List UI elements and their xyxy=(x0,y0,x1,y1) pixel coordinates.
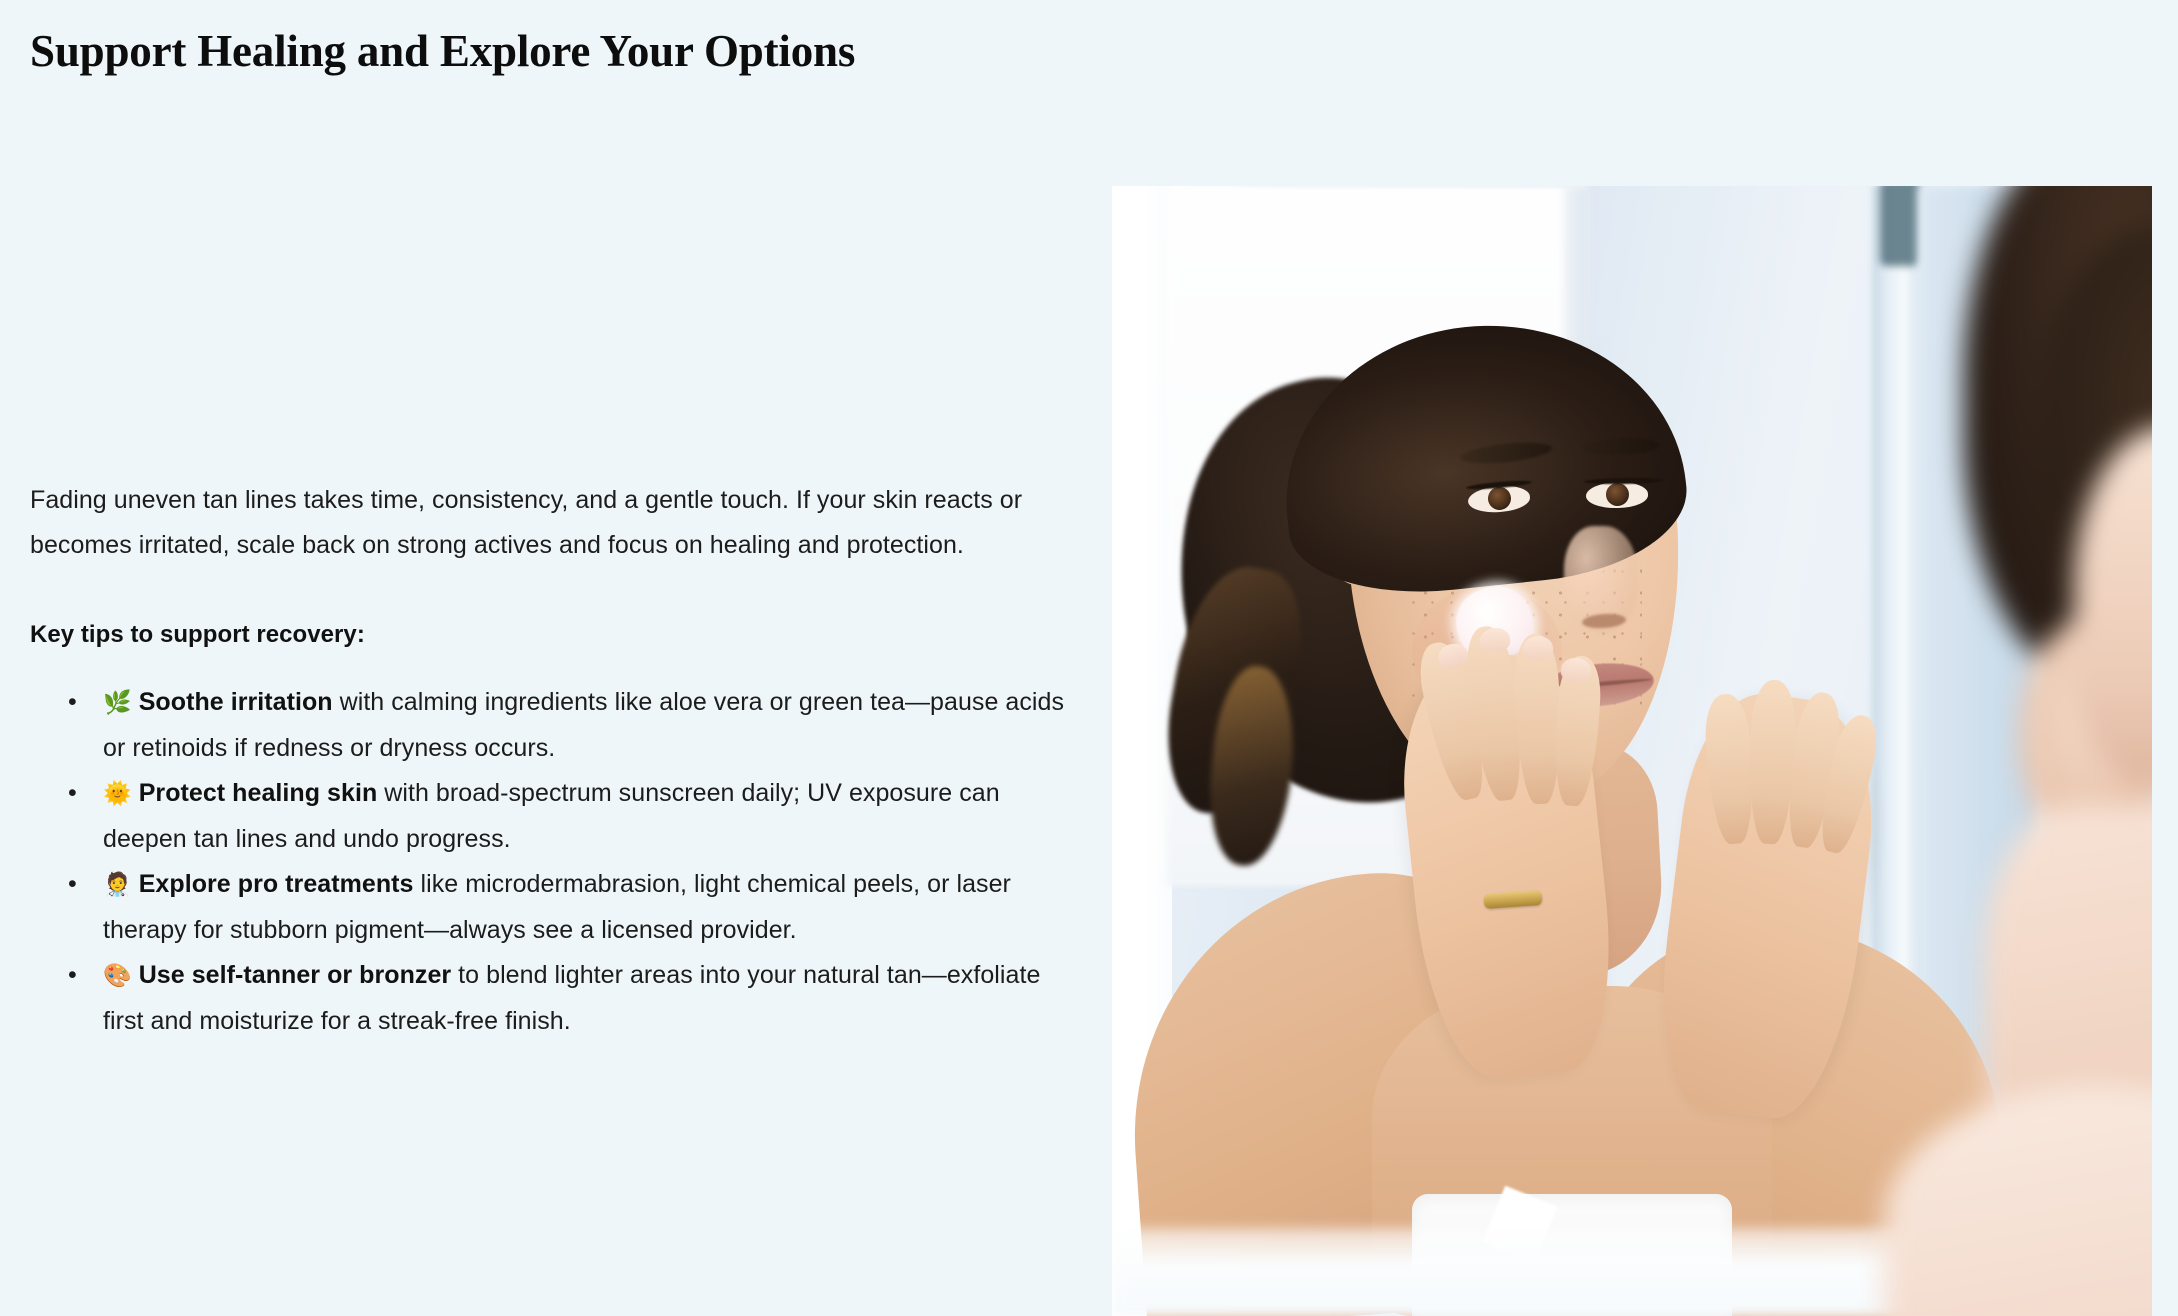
list-item: • 🧑‍⚕️ Explore pro treatments like micro… xyxy=(68,862,1075,953)
mirror-hardware xyxy=(1880,186,1920,266)
health-worker-emoji: 🧑‍⚕️ xyxy=(103,872,132,898)
artist-palette-emoji: 🎨 xyxy=(103,963,132,989)
article-section: Support Healing and Explore Your Options… xyxy=(0,0,2178,1316)
list-item: • 🌿 Soothe irritation with calming ingre… xyxy=(68,680,1075,771)
bullet-marker: • xyxy=(68,680,77,725)
foreground-shoulder xyxy=(1884,1086,2152,1316)
iris xyxy=(1487,487,1512,512)
foreground-reflection xyxy=(1924,186,2152,1316)
list-item: • 🌞 Protect healing skin with broad-spec… xyxy=(68,771,1075,862)
list-item: • 🎨 Use self-tanner or bronzer to blend … xyxy=(68,953,1075,1044)
text-column: Fading uneven tan lines takes time, cons… xyxy=(30,478,1075,1044)
fingernail xyxy=(1523,635,1554,660)
herb-emoji: 🌿 xyxy=(103,690,132,716)
page-title: Support Healing and Explore Your Options xyxy=(30,24,1430,78)
list-item-lead: Explore pro treatments xyxy=(139,870,414,898)
tips-list: • 🌿 Soothe irritation with calming ingre… xyxy=(30,680,1075,1044)
intro-paragraph: Fading uneven tan lines takes time, cons… xyxy=(30,478,1075,568)
bullet-marker: • xyxy=(68,862,77,907)
list-item-lead: Use self-tanner or bronzer xyxy=(139,961,451,989)
article-photo xyxy=(1112,186,2152,1316)
sun-emoji: 🌞 xyxy=(103,781,132,807)
list-item-lead: Soothe irritation xyxy=(139,688,333,716)
iris xyxy=(1606,483,1629,506)
bullet-marker: • xyxy=(68,771,77,816)
list-item-lead: Protect healing skin xyxy=(139,779,378,807)
photo-backdrop xyxy=(1112,186,2152,1316)
tips-heading: Key tips to support recovery: xyxy=(30,618,1075,652)
bullet-marker: • xyxy=(68,953,77,998)
